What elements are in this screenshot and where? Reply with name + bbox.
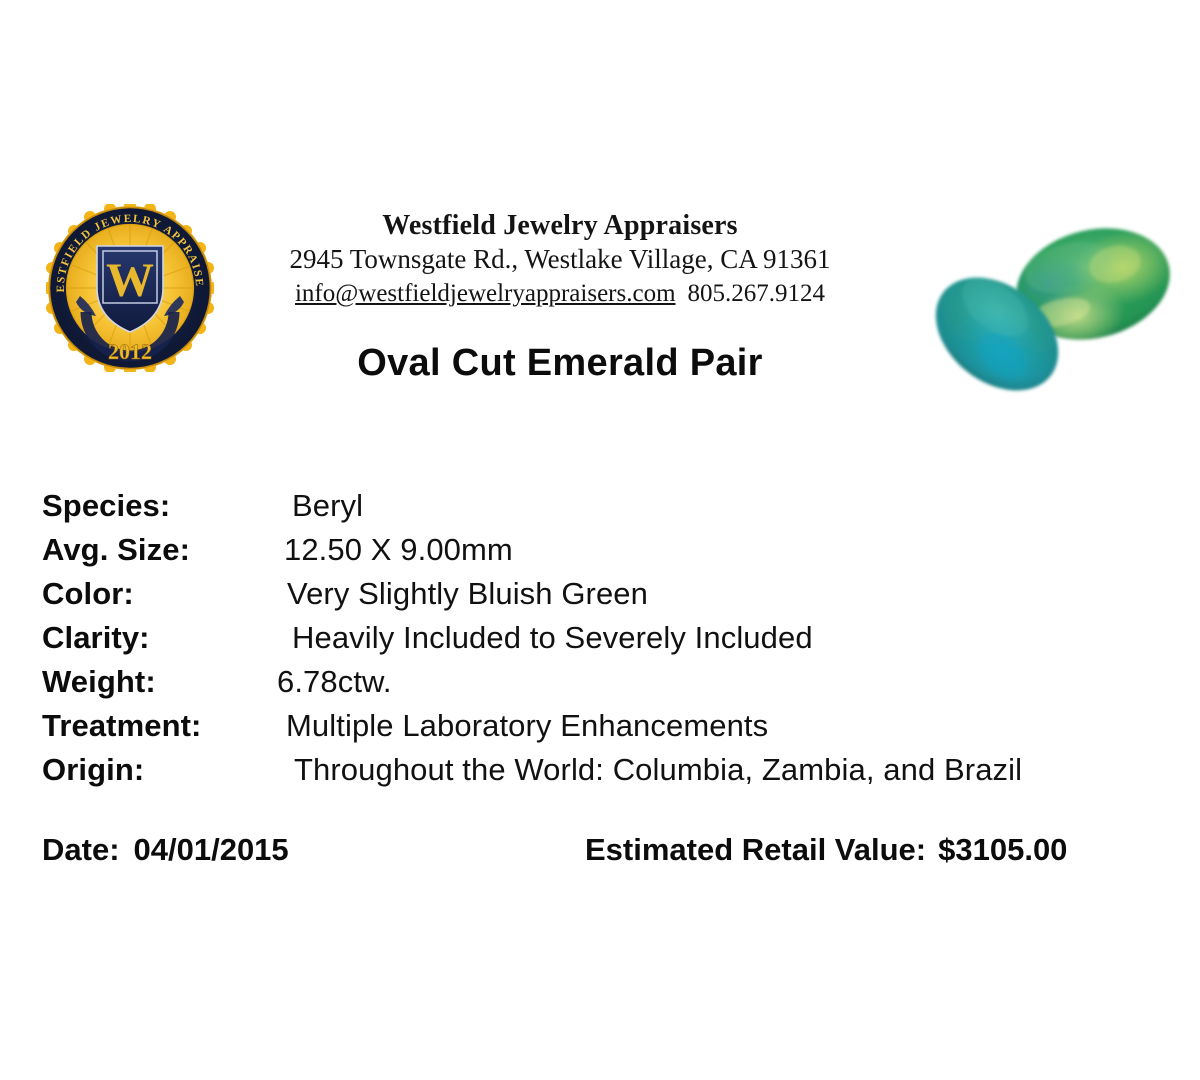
company-info-block: Westfield Jewelry Appraisers 2945 Townsg… xyxy=(230,210,890,309)
spec-row-treatment: Treatment: Multiple Laboratory Enhanceme… xyxy=(42,708,1162,752)
date-value: 04/01/2015 xyxy=(134,832,289,867)
retail-value-amount: $3105.00 xyxy=(938,832,1067,867)
spec-value-weight: 6.78ctw. xyxy=(277,664,392,700)
date-label: Date: xyxy=(42,832,120,867)
spec-label-weight: Weight: xyxy=(42,664,156,700)
spec-row-weight: Weight: 6.78ctw. xyxy=(42,664,1162,708)
spec-value-species: Beryl xyxy=(292,488,363,524)
gemstone-photo xyxy=(905,212,1190,417)
company-contact-line: info@westfieldjewelryappraisers.com805.2… xyxy=(230,279,890,309)
seal-year: 2012 xyxy=(108,339,152,364)
spec-value-treatment: Multiple Laboratory Enhancements xyxy=(286,708,768,744)
card-footer: Date:04/01/2015 Estimated Retail Value:$… xyxy=(42,832,1162,878)
seal-monogram: W xyxy=(106,254,154,307)
spec-label-species: Species: xyxy=(42,488,170,524)
page-title: Oval Cut Emerald Pair xyxy=(230,342,890,385)
estimated-retail-value: Estimated Retail Value:$3105.00 xyxy=(585,832,1067,868)
spec-row-species: Species: Beryl xyxy=(42,488,1162,532)
company-address: 2945 Townsgate Rd., Westlake Village, CA… xyxy=(230,243,890,275)
spec-row-color: Color: Very Slightly Bluish Green xyxy=(42,576,1162,620)
spec-value-origin: Throughout the World: Columbia, Zambia, … xyxy=(294,752,1022,788)
appraisal-card: WESTFIELD JEWELRY APPRAISERS W 2012 xyxy=(0,0,1200,1080)
spec-label-origin: Origin: xyxy=(42,752,144,788)
company-phone: 805.267.9124 xyxy=(688,280,826,307)
specification-list: Species: Beryl Avg. Size: 12.50 X 9.00mm… xyxy=(42,488,1162,796)
appraisal-date: Date:04/01/2015 xyxy=(42,832,289,868)
retail-value-label: Estimated Retail Value: xyxy=(585,832,926,867)
spec-value-clarity: Heavily Included to Severely Included xyxy=(292,620,813,656)
company-name: Westfield Jewelry Appraisers xyxy=(230,210,890,241)
spec-row-clarity: Clarity: Heavily Included to Severely In… xyxy=(42,620,1162,664)
spec-value-color: Very Slightly Bluish Green xyxy=(287,576,648,612)
spec-label-clarity: Clarity: xyxy=(42,620,150,656)
spec-label-avg-size: Avg. Size: xyxy=(42,532,190,568)
company-email-link[interactable]: info@westfieldjewelryappraisers.com xyxy=(295,280,676,307)
spec-row-avg-size: Avg. Size: 12.50 X 9.00mm xyxy=(42,532,1162,576)
company-seal-logo: WESTFIELD JEWELRY APPRAISERS W 2012 xyxy=(46,204,214,372)
spec-value-avg-size: 12.50 X 9.00mm xyxy=(284,532,513,568)
spec-row-origin: Origin: Throughout the World: Columbia, … xyxy=(42,752,1162,796)
spec-label-treatment: Treatment: xyxy=(42,708,201,744)
spec-label-color: Color: xyxy=(42,576,134,612)
